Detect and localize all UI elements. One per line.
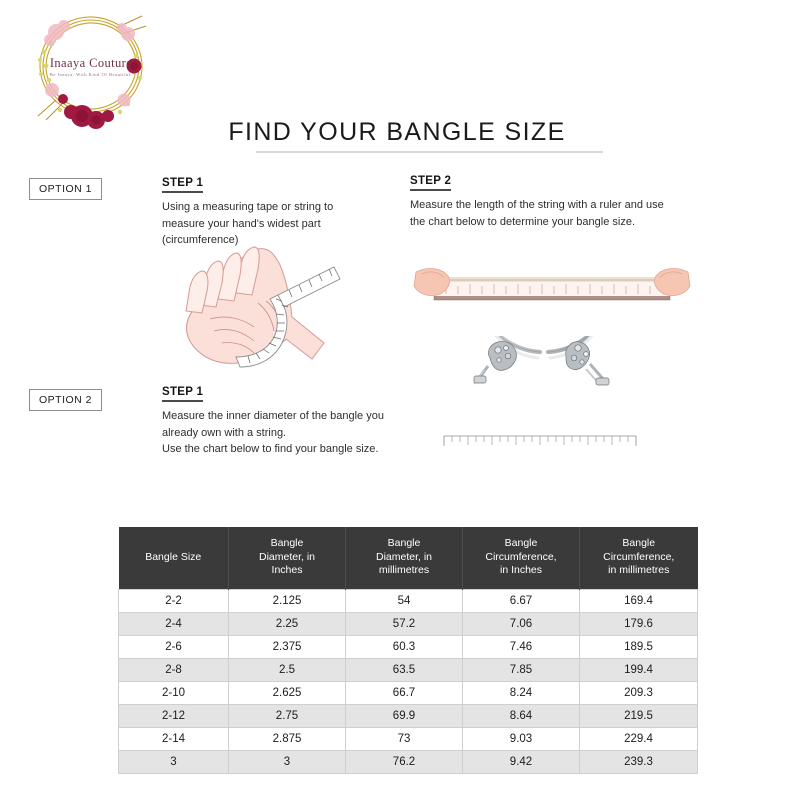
brand-name: Inaaya Couture — [16, 56, 166, 71]
table-row: 2-22.125546.67169.4 — [119, 589, 698, 612]
table-row: 2-62.37560.37.46189.5 — [119, 635, 698, 658]
column-header-1: BangleDiameter, inInches — [229, 527, 346, 589]
cell-bangle-size: 2-2 — [119, 589, 229, 612]
column-header-line: Bangle — [583, 537, 695, 551]
cell-value: 69.9 — [346, 704, 463, 727]
cell-value: 179.6 — [580, 612, 698, 635]
cell-value: 7.06 — [463, 612, 580, 635]
cell-value: 6.67 — [463, 589, 580, 612]
option-1-step-2-heading: STEP 2 — [410, 175, 451, 187]
cell-value: 63.5 — [346, 658, 463, 681]
option-1-step-1-body: Using a measuring tape or string to meas… — [162, 199, 362, 249]
cell-value: 2.25 — [229, 612, 346, 635]
cell-bangle-size: 2-6 — [119, 635, 229, 658]
cell-value: 2.375 — [229, 635, 346, 658]
table-row: 3376.29.42239.3 — [119, 750, 698, 773]
option-1-step-2-body: Measure the length of the string with a … — [410, 197, 668, 230]
cell-value: 9.03 — [463, 727, 580, 750]
column-header-line: Circumference, — [466, 551, 576, 565]
option-2-step-1-heading: STEP 1 — [162, 386, 203, 398]
cell-value: 209.3 — [580, 681, 698, 704]
cell-value: 199.4 — [580, 658, 698, 681]
cell-value: 8.24 — [463, 681, 580, 704]
cell-value: 73 — [346, 727, 463, 750]
page-title: FIND YOUR BANGLE SIZE — [0, 118, 794, 147]
cell-bangle-size: 2-8 — [119, 658, 229, 681]
cell-value: 2.625 — [229, 681, 346, 704]
cell-bangle-size: 2-12 — [119, 704, 229, 727]
column-header-line: Bangle Size — [122, 551, 226, 565]
silver-cuff-bangle-with-ruler-photo — [428, 336, 660, 510]
cell-value: 169.4 — [580, 589, 698, 612]
table-row: 2-102.62566.78.24209.3 — [119, 681, 698, 704]
option-2-badge: OPTION 2 — [29, 389, 102, 411]
cell-value: 9.42 — [463, 750, 580, 773]
column-header-line: in Inches — [466, 564, 576, 578]
cell-value: 229.4 — [580, 727, 698, 750]
cell-bangle-size: 2-4 — [119, 612, 229, 635]
cell-bangle-size: 2-10 — [119, 681, 229, 704]
table-row: 2-122.7569.98.64219.5 — [119, 704, 698, 727]
option-1-badge: OPTION 1 — [29, 178, 102, 200]
bangle-size-chart: Bangle SizeBangleDiameter, inInchesBangl… — [118, 527, 698, 774]
option-2-step-1-body: Measure the inner diameter of the bangle… — [162, 408, 407, 458]
column-header-line: millimetres — [349, 564, 459, 578]
cell-value: 2.5 — [229, 658, 346, 681]
brand-tagline: Be Inaaya. With Kind Of Beautiful. — [16, 72, 166, 77]
cell-value: 2.75 — [229, 704, 346, 727]
column-header-line: Diameter, in — [349, 551, 459, 565]
column-header-3: BangleCircumference,in Inches — [463, 527, 580, 589]
cell-value: 54 — [346, 589, 463, 612]
cell-bangle-size: 3 — [119, 750, 229, 773]
column-header-line: Bangle — [466, 537, 576, 551]
cell-value: 57.2 — [346, 612, 463, 635]
cell-value: 76.2 — [346, 750, 463, 773]
table-header-row: Bangle SizeBangleDiameter, inInchesBangl… — [119, 527, 698, 589]
hands-holding-string-over-ruler-photo — [412, 252, 692, 322]
cell-value: 7.46 — [463, 635, 580, 658]
column-header-line: Diameter, in — [232, 551, 342, 565]
cell-value: 219.5 — [580, 704, 698, 727]
cell-value: 2.875 — [229, 727, 346, 750]
cell-value: 3 — [229, 750, 346, 773]
brand-logo: Inaaya Couture Be Inaaya. With Kind Of B… — [16, 4, 166, 134]
hand-with-measuring-tape-illustration — [162, 243, 362, 383]
column-header-2: BangleDiameter, inmillimetres — [346, 527, 463, 589]
cell-value: 189.5 — [580, 635, 698, 658]
column-header-4: BangleCircumference,in millimetres — [580, 527, 698, 589]
cell-value: 66.7 — [346, 681, 463, 704]
column-header-line: Bangle — [232, 537, 342, 551]
cell-value: 2.125 — [229, 589, 346, 612]
table-row: 2-82.563.57.85199.4 — [119, 658, 698, 681]
title-divider — [256, 151, 603, 153]
cell-value: 60.3 — [346, 635, 463, 658]
cell-value: 8.64 — [463, 704, 580, 727]
column-header-line: Bangle — [349, 537, 459, 551]
column-header-line: Circumference, — [583, 551, 695, 565]
option-1-step-1-heading: STEP 1 — [162, 177, 203, 189]
cell-bangle-size: 2-14 — [119, 727, 229, 750]
column-header-line: in millimetres — [583, 564, 695, 578]
cell-value: 239.3 — [580, 750, 698, 773]
column-header-0: Bangle Size — [119, 527, 229, 589]
column-header-line: Inches — [232, 564, 342, 578]
table-row: 2-142.875739.03229.4 — [119, 727, 698, 750]
table-row: 2-42.2557.27.06179.6 — [119, 612, 698, 635]
cell-value: 7.85 — [463, 658, 580, 681]
